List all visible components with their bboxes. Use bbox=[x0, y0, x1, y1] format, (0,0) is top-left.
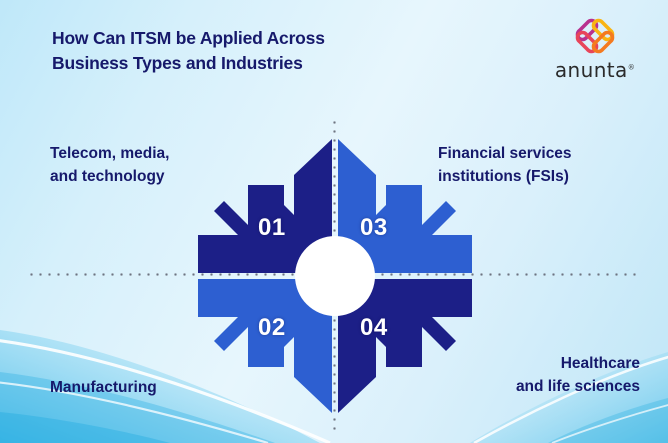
quadrant-number-03: 03 bbox=[360, 214, 388, 242]
page-title-line-2: Business Types and Industries bbox=[52, 51, 432, 76]
quadrant-label-01-line-1: Telecom, media, bbox=[50, 142, 250, 165]
quadrant-label-02: Manufacturing bbox=[50, 376, 270, 399]
page-title-line-1: How Can ITSM be Applied Across bbox=[52, 26, 432, 51]
logo-wordmark-text: anunta bbox=[555, 58, 628, 82]
quadrant-number-02: 02 bbox=[258, 314, 286, 342]
registered-trademark-icon: ® bbox=[628, 63, 635, 71]
logo-wordmark: anunta® bbox=[548, 58, 642, 82]
quadrant-label-04-line-1: Healthcare bbox=[418, 352, 640, 375]
quadrant-number-01: 01 bbox=[258, 214, 286, 242]
center-circle bbox=[295, 236, 375, 316]
quadrant-label-04-line-2: and life sciences bbox=[418, 375, 640, 398]
quadrant-number-04: 04 bbox=[360, 314, 388, 342]
slide-canvas: How Can ITSM be Applied Across Business … bbox=[0, 0, 668, 443]
quadrant-label-03: Financial services institutions (FSIs) bbox=[438, 142, 658, 188]
quadrant-label-01: Telecom, media, and technology bbox=[50, 142, 250, 188]
quadrant-label-02-line-1: Manufacturing bbox=[50, 376, 270, 399]
anunta-knot-icon bbox=[573, 16, 617, 56]
quadrant-label-03-line-1: Financial services bbox=[438, 142, 658, 165]
quadrant-label-03-line-2: institutions (FSIs) bbox=[438, 165, 658, 188]
page-title: How Can ITSM be Applied Across Business … bbox=[52, 26, 432, 76]
quadrant-label-01-line-2: and technology bbox=[50, 165, 250, 188]
brand-logo: anunta® bbox=[548, 16, 642, 82]
quadrant-label-04: Healthcare and life sciences bbox=[418, 352, 640, 398]
